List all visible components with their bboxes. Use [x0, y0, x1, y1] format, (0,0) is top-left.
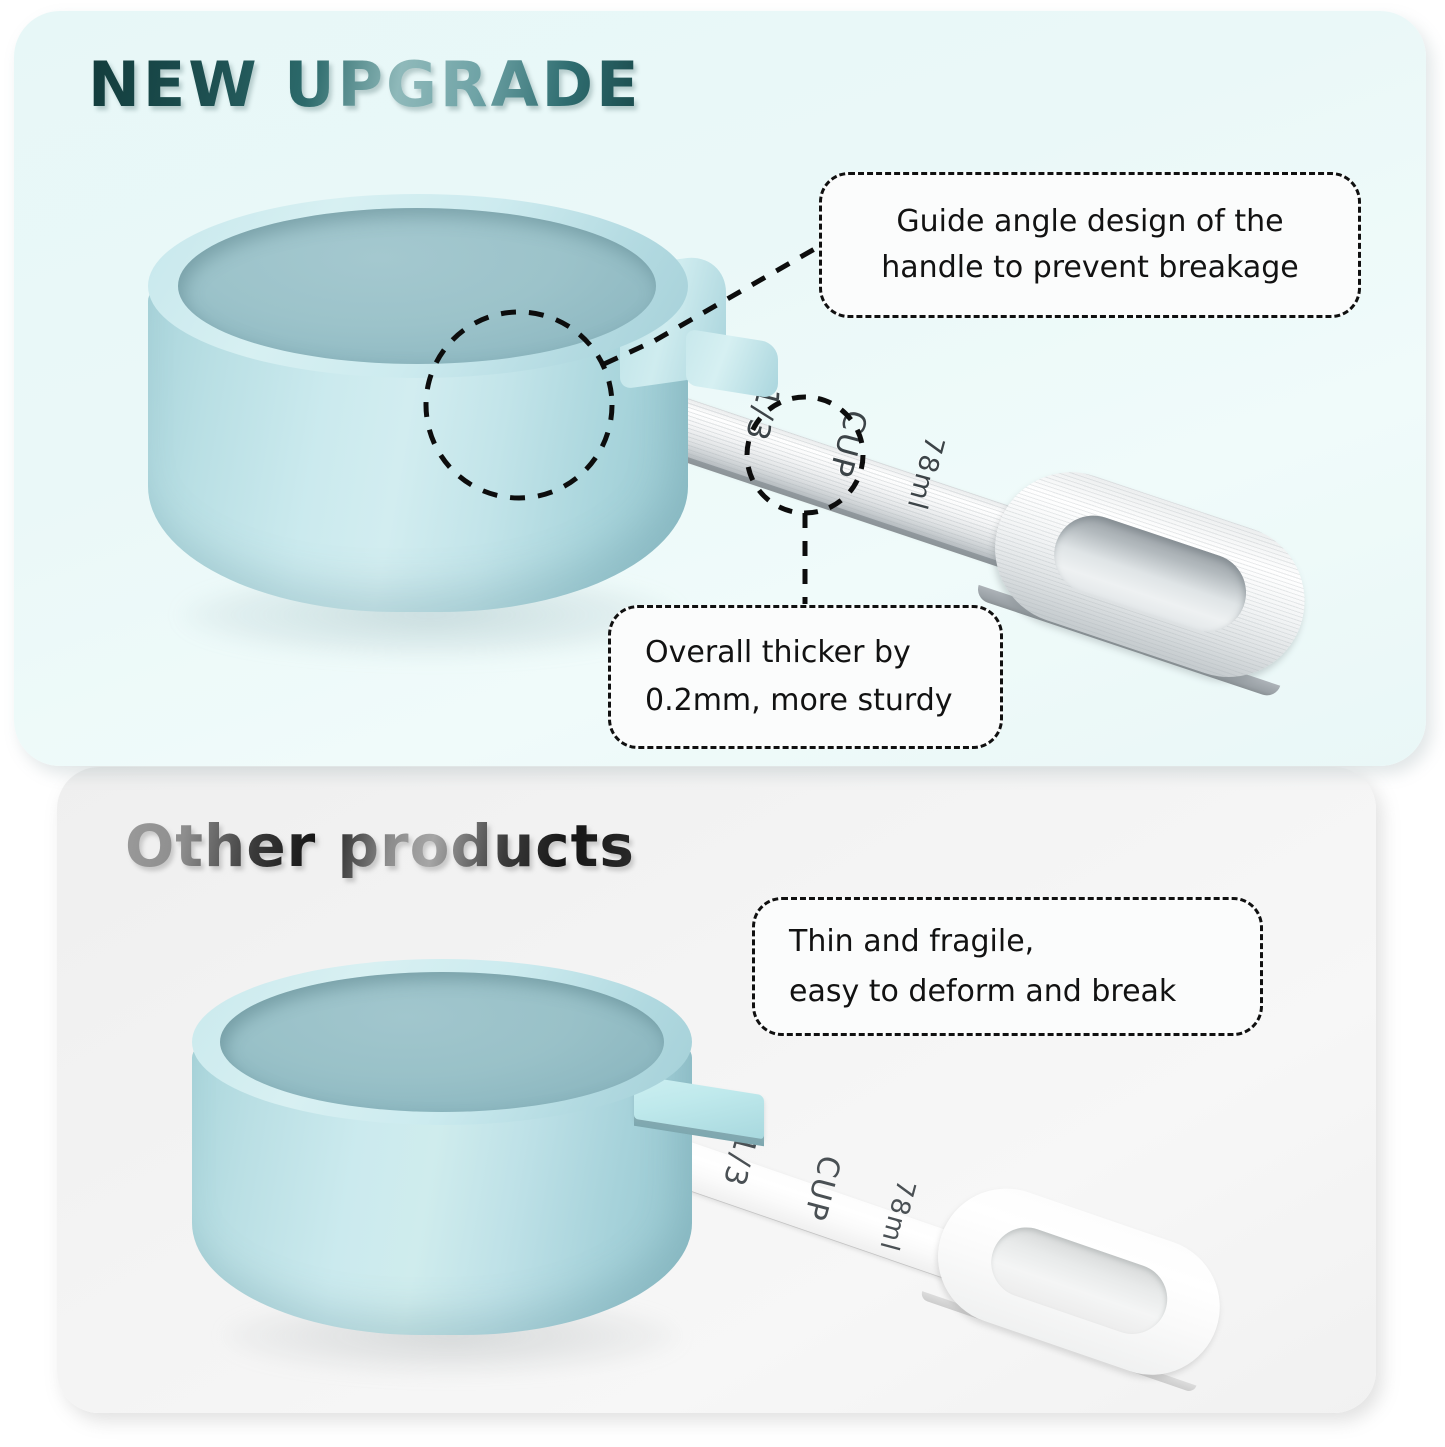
callout-guide-angle: Guide angle design of the handle to prev…: [819, 172, 1361, 318]
measuring-cup-upgraded: [120, 186, 720, 646]
callout-guide-angle-line2: handle to prevent breakage: [848, 245, 1332, 292]
handle-ring: [912, 1170, 1238, 1416]
measuring-cup-other: [168, 953, 728, 1373]
comparison-infographic: NEW UPGRADE 1/3 CUP 78ml Guide angle des…: [0, 0, 1445, 1447]
callout-thin-fragile-line1: Thin and fragile,: [789, 917, 1226, 967]
page-title-other-products: Other products: [125, 812, 635, 880]
callout-thin-fragile: Thin and fragile, easy to deform and bre…: [752, 897, 1263, 1036]
cup-rim-inner: [178, 208, 656, 364]
callout-guide-angle-line1: Guide angle design of the: [848, 199, 1332, 246]
callout-thickness-line2: 0.2mm, more sturdy: [645, 677, 966, 725]
page-title-new-upgrade: NEW UPGRADE: [88, 48, 641, 121]
callout-thin-fragile-line2: easy to deform and break: [789, 967, 1226, 1017]
callout-thickness-line1: Overall thicker by: [645, 629, 966, 677]
callout-thickness: Overall thicker by 0.2mm, more sturdy: [608, 605, 1003, 749]
cup-rim-inner: [220, 972, 664, 1112]
